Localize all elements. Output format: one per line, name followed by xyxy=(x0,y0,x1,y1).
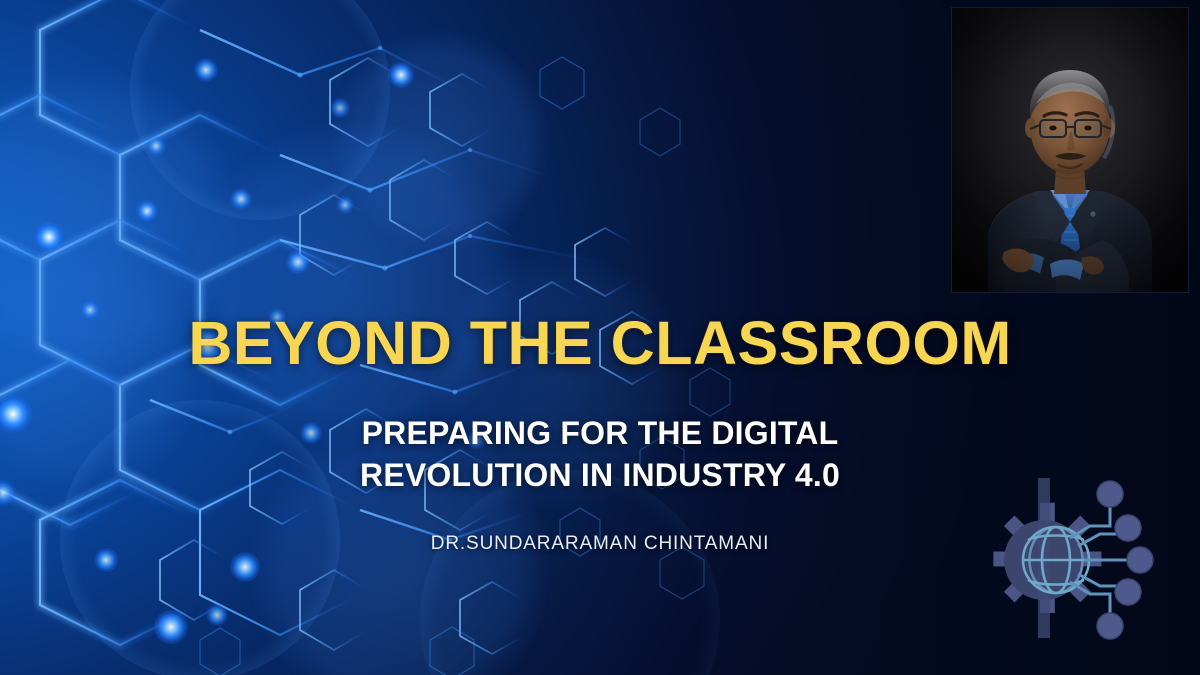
gear-icon xyxy=(993,503,1101,613)
circuit-traces xyxy=(1070,500,1128,620)
network-glow-node xyxy=(336,196,354,214)
network-glow-node xyxy=(136,200,158,222)
bokeh-disc xyxy=(190,120,520,450)
speaker-portrait xyxy=(952,8,1188,292)
presentation-title-slide: BEYOND THE CLASSROOM PREPARING FOR THE D… xyxy=(0,0,1200,675)
circuit-nodes xyxy=(1097,481,1153,639)
network-glow-node xyxy=(230,552,260,582)
subtitle-line-1: PREPARING FOR THE DIGITAL xyxy=(0,413,1200,455)
slide-subtitle: PREPARING FOR THE DIGITAL REVOLUTION IN … xyxy=(0,413,1200,496)
gear-inner-disc xyxy=(1004,520,1084,600)
speaker-name: DR.SUNDARARAMAN CHINTAMANI xyxy=(0,533,1200,555)
bokeh-disc xyxy=(330,30,550,250)
network-glow-node xyxy=(286,250,310,274)
network-glow-node xyxy=(146,136,166,156)
subtitle-line-2: REVOLUTION IN INDUSTRY 4.0 xyxy=(0,455,1200,497)
portrait-vignette xyxy=(952,8,1188,292)
page-title: BEYOND THE CLASSROOM xyxy=(0,312,1200,374)
network-glow-node xyxy=(34,222,64,252)
network-glow-node xyxy=(206,604,228,626)
bokeh-ring xyxy=(130,0,390,220)
portrait-image xyxy=(952,8,1188,292)
network-glow-node xyxy=(230,188,252,210)
network-glow-node xyxy=(194,58,218,82)
circuit-node xyxy=(1115,579,1141,605)
bokeh-ring xyxy=(420,470,720,675)
network-glow-node xyxy=(154,610,188,644)
circuit-node xyxy=(1097,613,1123,639)
network-glow-node xyxy=(388,62,414,88)
gear-band xyxy=(1038,478,1050,638)
network-glow-node xyxy=(330,98,350,118)
